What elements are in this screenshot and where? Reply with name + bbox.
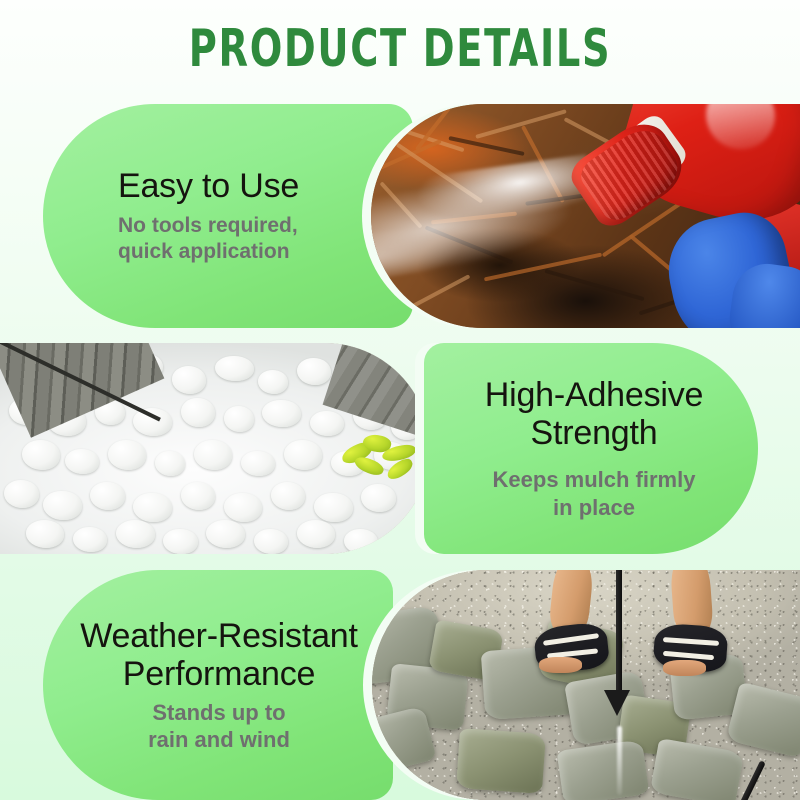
feature-subtitle: No tools required, quick application [118, 213, 298, 265]
feature-card-weather-resistant-performance: Weather-Resistant Performance Stands up … [43, 570, 393, 800]
feature-subtitle-line-1: Keeps mulch firmly [493, 466, 696, 494]
feature-subtitle-line-2: quick application [118, 239, 298, 265]
feature-title: High-Adhesive Strength [485, 376, 704, 452]
page-title: PRODUCT DETAILS [72, 20, 728, 78]
spray-wand [616, 570, 622, 699]
green-plant [331, 423, 426, 495]
white-gravel-bed-photo [0, 343, 430, 554]
feature-subtitle-line-1: Stands up to [148, 699, 290, 726]
feature-subtitle: Stands up to rain and wind [148, 699, 290, 753]
left-toes [539, 657, 582, 673]
feature-subtitle-line-1: No tools required, [118, 213, 298, 239]
feature-card-high-adhesive-strength: High-Adhesive Strength Keeps mulch firml… [424, 343, 758, 554]
feature-subtitle: Keeps mulch firmly in place [493, 466, 696, 522]
feature-title-line-2: Strength [485, 414, 704, 452]
spray-bottle-on-mulch-photo [371, 104, 800, 328]
feature-card-easy-to-use: Easy to Use No tools required, quick app… [43, 104, 413, 328]
rocks-and-sandals-photo [372, 570, 800, 800]
feature-title: Easy to Use [118, 167, 299, 205]
feature-title: Weather-Resistant Performance [80, 617, 358, 693]
spray-wand-cone [604, 690, 630, 716]
feature-subtitle-line-2: in place [493, 494, 696, 522]
feature-title-line-2: Performance [80, 655, 358, 693]
spray-wand-jet [617, 726, 622, 795]
feature-row-easy-to-use: Easy to Use No tools required, quick app… [0, 104, 800, 328]
feature-row-high-adhesive-strength: High-Adhesive Strength Keeps mulch firml… [0, 343, 800, 554]
feature-row-weather-resistant-performance: Weather-Resistant Performance Stands up … [0, 570, 800, 800]
feature-title-line-1: High-Adhesive [485, 376, 704, 414]
feature-subtitle-line-2: rain and wind [148, 726, 290, 753]
right-toes [663, 660, 706, 676]
feature-title-line-1: Weather-Resistant [80, 617, 358, 655]
